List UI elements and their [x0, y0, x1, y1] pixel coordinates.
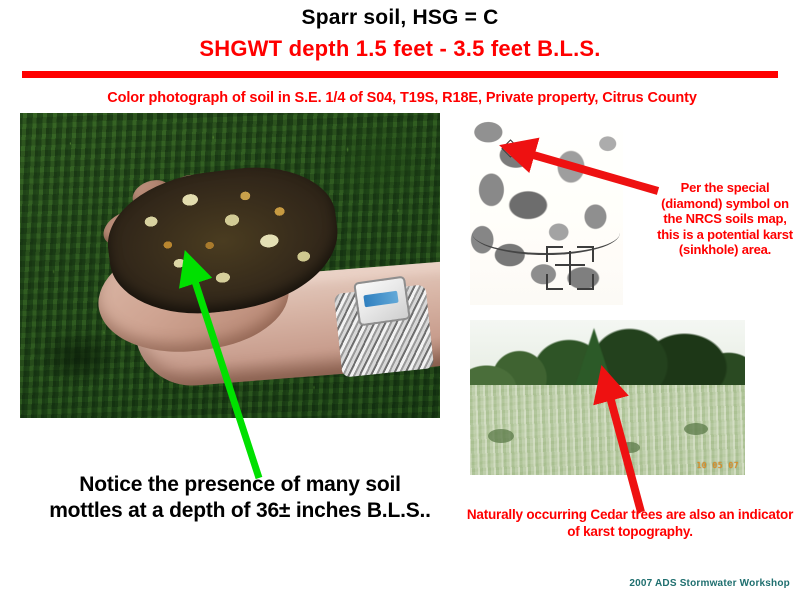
footer-workshop-label: 2007 ADS Stormwater Workshop: [500, 578, 790, 589]
nrcs-soils-map-image: [470, 113, 623, 305]
cedar-annotation-text: Naturally occurring Cedar trees are also…: [462, 506, 798, 540]
soil-sample-photo: [20, 113, 440, 418]
cedar-trees-photo: 10 05 07: [470, 320, 745, 475]
map-cross-symbol-icon: [546, 246, 594, 290]
mottles-annotation-text: Notice the presence of many soil mottles…: [40, 472, 440, 524]
shrub-shape: [488, 429, 514, 443]
photo-datestamp: 10 05 07: [696, 461, 739, 470]
karst-annotation-text: Per the special (diamond) symbol on the …: [652, 180, 798, 258]
slide-canvas: Sparr soil, HSG = C SHGWT depth 1.5 feet…: [0, 0, 800, 600]
red-divider-rule: [22, 71, 778, 78]
shrub-shape: [684, 423, 708, 435]
page-title: Sparr soil, HSG = C: [0, 6, 800, 30]
shrub-shape: [620, 442, 640, 453]
photo-caption: Color photograph of soil in S.E. 1/4 of …: [24, 90, 780, 106]
page-subtitle: SHGWT depth 1.5 feet - 3.5 feet B.L.S.: [0, 36, 800, 62]
